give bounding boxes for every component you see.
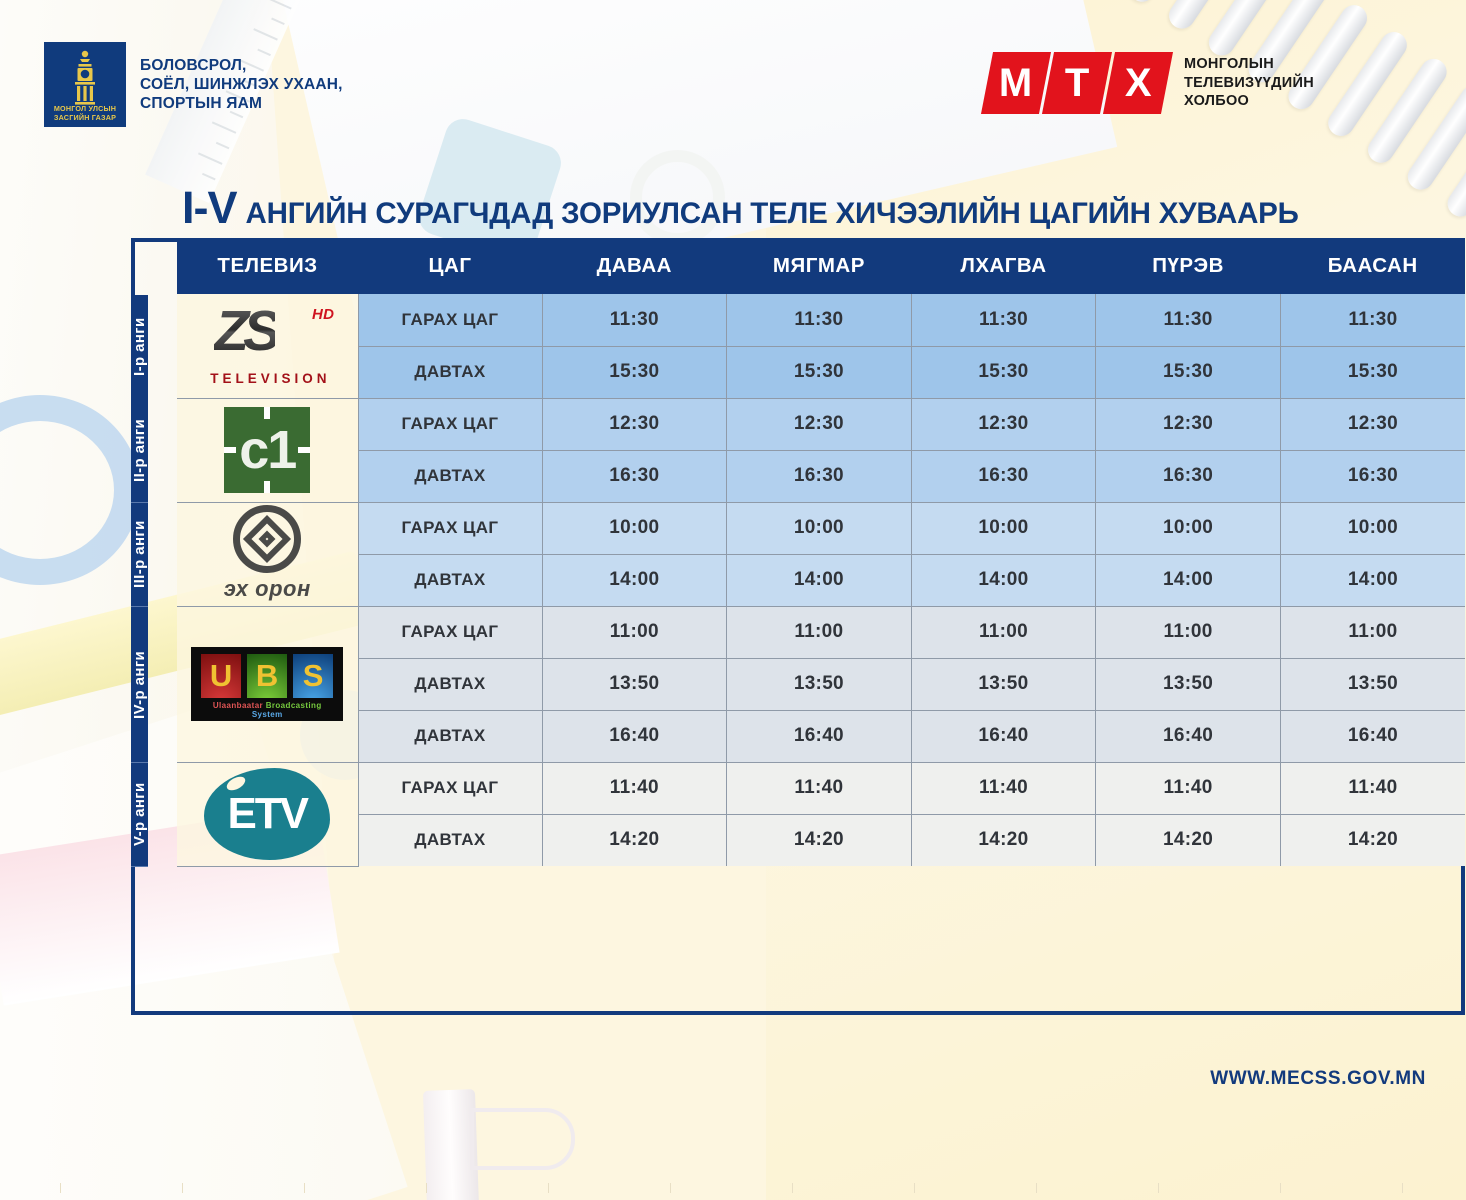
schedule-time-cell: 16:40 [542, 710, 727, 762]
column-header-time: ЦАГ [358, 238, 542, 294]
c1-tick-left [224, 447, 236, 453]
schedule-time-cell: 14:00 [727, 554, 912, 606]
schedule-time-cell: 11:30 [911, 294, 1096, 346]
c1-tick-top [264, 407, 270, 419]
mtx-letter-t-text: Т [1065, 61, 1089, 106]
column-header-tuesday: МЯГМАР [727, 238, 912, 294]
schedule-time-cell: 14:00 [911, 554, 1096, 606]
schedule-table-wrapper: ТЕЛЕВИЗ ЦАГ ДАВАА МЯГМАР ЛХАГВА ПҮРЭВ БА… [177, 238, 1465, 867]
schedule-time-cell: 14:20 [1280, 814, 1465, 866]
schedule-table: ТЕЛЕВИЗ ЦАГ ДАВАА МЯГМАР ЛХАГВА ПҮРЭВ БА… [177, 238, 1465, 867]
schedule-time-cell: 14:20 [727, 814, 912, 866]
ministry-line3: СПОРТЫН ЯАМ [140, 94, 343, 113]
zs-television-text: TELEVISION [210, 371, 330, 386]
ubs-television-logo: U B S Ulaanbaatar Broadcasting System [191, 647, 343, 721]
page-edge-tick [914, 1183, 915, 1193]
schedule-time-cell: 10:00 [542, 502, 727, 554]
page-edge-tick [1280, 1183, 1281, 1193]
schedule-time-cell: 15:30 [1096, 346, 1281, 398]
schedule-time-cell: 16:40 [1280, 710, 1465, 762]
government-logo: МОНГОЛ УЛСЫН ЗАСГИЙН ГАЗАР БОЛОВСРОЛ, СО… [44, 42, 343, 127]
schedule-time-cell: 11:30 [542, 294, 727, 346]
mtx-letter-t: Т [1042, 52, 1112, 114]
schedule-time-cell: 16:40 [1096, 710, 1281, 762]
schedule-time-cell: 13:50 [1096, 658, 1281, 710]
schedule-time-cell: 16:30 [727, 450, 912, 502]
schedule-time-cell: 11:40 [1280, 762, 1465, 814]
ubs-letter-b: B [247, 654, 287, 698]
zs-hd-badge: HD [312, 306, 334, 323]
table-row: ДАВТАХ16:3016:3016:3016:3016:30 [177, 450, 1465, 502]
schedule-time-cell: 11:00 [1096, 606, 1281, 658]
page-title: I-V АНГИЙН СУРАГЧДАД ЗОРИУЛСАН ТЕЛЕ ХИЧЭ… [182, 182, 1299, 234]
page-edge-tick [670, 1183, 671, 1193]
mtx-letter-m-text: М [999, 61, 1032, 106]
eh-oron-logo: эх орон [202, 505, 332, 603]
soyombo-emblem-icon: МОНГОЛ УЛСЫН ЗАСГИЙН ГАЗАР [44, 42, 126, 127]
schedule-time-cell: 11:00 [1280, 606, 1465, 658]
schedule-time-cell: 15:30 [911, 346, 1096, 398]
channel-logo-cell: c1 [177, 398, 358, 502]
schedule-time-cell: 13:50 [727, 658, 912, 710]
mtx-association-name: МОНГОЛЫН ТЕЛЕВИЗҮҮДИЙН ХОЛБОО [1184, 55, 1314, 111]
table-header-row: ТЕЛЕВИЗ ЦАГ ДАВАА МЯГМАР ЛХАГВА ПҮРЭВ БА… [177, 238, 1465, 294]
column-header-television: ТЕЛЕВИЗ [177, 238, 358, 294]
schedule-time-cell: 11:00 [727, 606, 912, 658]
schedule-time-cell: 14:20 [911, 814, 1096, 866]
page-header: МОНГОЛ УЛСЫН ЗАСГИЙН ГАЗАР БОЛОВСРОЛ, СО… [0, 0, 1466, 170]
schedule-time-cell: 12:30 [1096, 398, 1281, 450]
schedule-time-cell: 12:30 [542, 398, 727, 450]
schedule-time-cell: 12:30 [1280, 398, 1465, 450]
time-type-label: ГАРАХ ЦАГ [358, 762, 542, 814]
column-header-wednesday: ЛХАГВА [911, 238, 1096, 294]
column-header-monday: ДАВАА [542, 238, 727, 294]
schedule-time-cell: 11:30 [727, 294, 912, 346]
time-type-label: ГАРАХ ЦАГ [358, 606, 542, 658]
table-row: ETV ГАРАХ ЦАГ11:4011:4011:4011:4011:40 [177, 762, 1465, 814]
schedule-time-cell: 16:40 [911, 710, 1096, 762]
grade-label-2: II-р анги [131, 399, 148, 503]
c1-tick-bottom [264, 481, 270, 493]
gov-emblem-line1: МОНГОЛ УЛСЫН [44, 104, 126, 113]
page-edge-tick [426, 1183, 427, 1193]
schedule-time-cell: 16:30 [542, 450, 727, 502]
grade-label-5: V-р анги [131, 763, 148, 867]
page-title-text: АНГИЙН СУРАГЧДАД ЗОРИУЛСАН ТЕЛЕ ХИЧЭЭЛИЙ… [246, 197, 1299, 231]
table-row: ДАВТАХ16:4016:4016:4016:4016:40 [177, 710, 1465, 762]
channel-logo-cell: ZS HD TELEVISION [177, 294, 358, 398]
page-title-prefix: I-V [182, 182, 237, 234]
schedule-time-cell: 11:40 [1096, 762, 1281, 814]
channel-logo-cell: ETV [177, 762, 358, 866]
table-row: ДАВТАХ13:5013:5013:5013:5013:50 [177, 658, 1465, 710]
time-type-label: ГАРАХ ЦАГ [358, 294, 542, 346]
schedule-time-cell: 14:20 [1096, 814, 1281, 866]
table-row: ДАВТАХ14:0014:0014:0014:0014:00 [177, 554, 1465, 606]
schedule-time-cell: 16:30 [1280, 450, 1465, 502]
ubs-caption: Ulaanbaatar Broadcasting System [200, 701, 334, 719]
time-type-label: ДАВТАХ [358, 346, 542, 398]
page-edge-tick [182, 1183, 183, 1193]
schedule-time-cell: 15:30 [727, 346, 912, 398]
mtx-letter-x: Х [1103, 52, 1173, 114]
ubs-letter-s: S [293, 654, 333, 698]
time-type-label: ГАРАХ ЦАГ [358, 502, 542, 554]
channel-logo-cell: эх орон [177, 502, 358, 606]
page-edge-tick [1402, 1183, 1403, 1193]
c1-wordmark: c1 [239, 423, 295, 477]
bottom-tick-rule [0, 1183, 1466, 1184]
table-row: ДАВТАХ14:2014:2014:2014:2014:20 [177, 814, 1465, 866]
table-row: U B S Ulaanbaatar Broadcasting SystemГАР… [177, 606, 1465, 658]
schedule-time-cell: 16:30 [1096, 450, 1281, 502]
schedule-time-cell: 10:00 [1280, 502, 1465, 554]
grade-label-1: I-р анги [131, 295, 148, 399]
grade-label-4: IV-р анги [131, 607, 148, 763]
schedule-time-cell: 10:00 [727, 502, 912, 554]
schedule-time-cell: 14:00 [542, 554, 727, 606]
schedule-time-cell: 11:00 [542, 606, 727, 658]
schedule-time-cell: 14:00 [1280, 554, 1465, 606]
zs-television-logo: ZS HD TELEVISION [192, 300, 342, 392]
schedule-time-cell: 11:40 [727, 762, 912, 814]
page-edge-tick [60, 1183, 61, 1193]
website-link[interactable]: WWW.MECSS.GOV.MN [1210, 1068, 1426, 1090]
c1-television-logo: c1 [224, 407, 310, 493]
schedule-time-cell: 13:50 [1280, 658, 1465, 710]
time-type-label: ГАРАХ ЦАГ [358, 398, 542, 450]
etv-blob-icon: ETV [204, 768, 330, 860]
c1-tick-right [298, 447, 310, 453]
soyombo-symbol-icon [72, 49, 98, 105]
table-row: эх оронГАРАХ ЦАГ10:0010:0010:0010:0010:0… [177, 502, 1465, 554]
schedule-table-head: ТЕЛЕВИЗ ЦАГ ДАВАА МЯГМАР ЛХАГВА ПҮРЭВ БА… [177, 238, 1465, 294]
time-type-label: ДАВТАХ [358, 554, 542, 606]
time-type-label: ДАВТАХ [358, 450, 542, 502]
page-edge-tick [1036, 1183, 1037, 1193]
page-edge-tick [304, 1183, 305, 1193]
schedule-time-cell: 11:00 [911, 606, 1096, 658]
ubs-letter-row: U B S [200, 654, 334, 698]
schedule-time-cell: 11:30 [1096, 294, 1281, 346]
etv-wordmark: ETV [227, 792, 307, 836]
column-header-friday: БААСАН [1280, 238, 1465, 294]
channel-logo-cell: U B S Ulaanbaatar Broadcasting System [177, 606, 358, 762]
eh-oron-circle-icon [233, 505, 301, 573]
ruler-tick [202, 173, 216, 181]
mtx-line1: МОНГОЛЫН [1184, 55, 1314, 74]
time-type-label: ДАВТАХ [358, 814, 542, 866]
mtx-line2: ТЕЛЕВИЗҮҮДИЙН [1184, 74, 1314, 93]
mtx-mark-icon: М Т Х [987, 52, 1167, 114]
schedule-time-cell: 14:20 [542, 814, 727, 866]
schedule-time-cell: 15:30 [1280, 346, 1465, 398]
time-type-label: ДАВТАХ [358, 658, 542, 710]
zs-wordmark: ZS [214, 298, 275, 364]
page-edge-tick [792, 1183, 793, 1193]
mongolian-knot-icon [243, 515, 291, 563]
mtx-line3: ХОЛБОО [1184, 92, 1314, 111]
ministry-line2: СОЁЛ, ШИНЖЛЭХ УХААН, [140, 75, 343, 94]
page-edge-tick [1158, 1183, 1159, 1193]
schedule-table-body: ZS HD TELEVISIONГАРАХ ЦАГ11:3011:3011:30… [177, 294, 1465, 866]
grade-rail: I-р ангиII-р ангиIII-р ангиIV-р ангиV-р … [131, 295, 177, 867]
mtx-letter-x-text: Х [1125, 61, 1152, 106]
schedule-time-cell: 11:40 [911, 762, 1096, 814]
table-row: ZS HD TELEVISIONГАРАХ ЦАГ11:3011:3011:30… [177, 294, 1465, 346]
table-row: c1ГАРАХ ЦАГ12:3012:3012:3012:3012:30 [177, 398, 1465, 450]
mtx-letter-m: М [981, 52, 1051, 114]
column-header-thursday: ПҮРЭВ [1096, 238, 1281, 294]
schedule-time-cell: 16:30 [911, 450, 1096, 502]
schedule-time-cell: 10:00 [1096, 502, 1281, 554]
ministry-name: БОЛОВСРОЛ, СОЁЛ, ШИНЖЛЭХ УХААН, СПОРТЫН … [140, 56, 343, 113]
gov-emblem-line2: ЗАСГИЙН ГАЗАР [44, 113, 126, 122]
etv-television-logo: ETV [204, 768, 330, 860]
schedule-time-cell: 14:00 [1096, 554, 1281, 606]
time-type-label: ДАВТАХ [358, 710, 542, 762]
schedule-time-cell: 11:40 [542, 762, 727, 814]
schedule-time-cell: 15:30 [542, 346, 727, 398]
schedule-time-cell: 16:40 [727, 710, 912, 762]
schedule-time-cell: 10:00 [911, 502, 1096, 554]
ministry-line1: БОЛОВСРОЛ, [140, 56, 343, 75]
mtx-logo: М Т Х МОНГОЛЫН ТЕЛЕВИЗҮҮДИЙН ХОЛБОО [987, 52, 1314, 114]
schedule-time-cell: 13:50 [911, 658, 1096, 710]
schedule-time-cell: 11:30 [1280, 294, 1465, 346]
eh-oron-wordmark: эх орон [202, 576, 332, 602]
table-row: ДАВТАХ15:3015:3015:3015:3015:30 [177, 346, 1465, 398]
gov-emblem-caption: МОНГОЛ УЛСЫН ЗАСГИЙН ГАЗАР [44, 104, 126, 122]
schedule-time-cell: 12:30 [727, 398, 912, 450]
page-edge-tick [548, 1183, 549, 1193]
binder-clip-wire-icon [470, 1108, 575, 1170]
schedule-time-cell: 13:50 [542, 658, 727, 710]
ubs-letter-u: U [201, 654, 241, 698]
grade-label-3: III-р анги [131, 503, 148, 607]
schedule-time-cell: 12:30 [911, 398, 1096, 450]
